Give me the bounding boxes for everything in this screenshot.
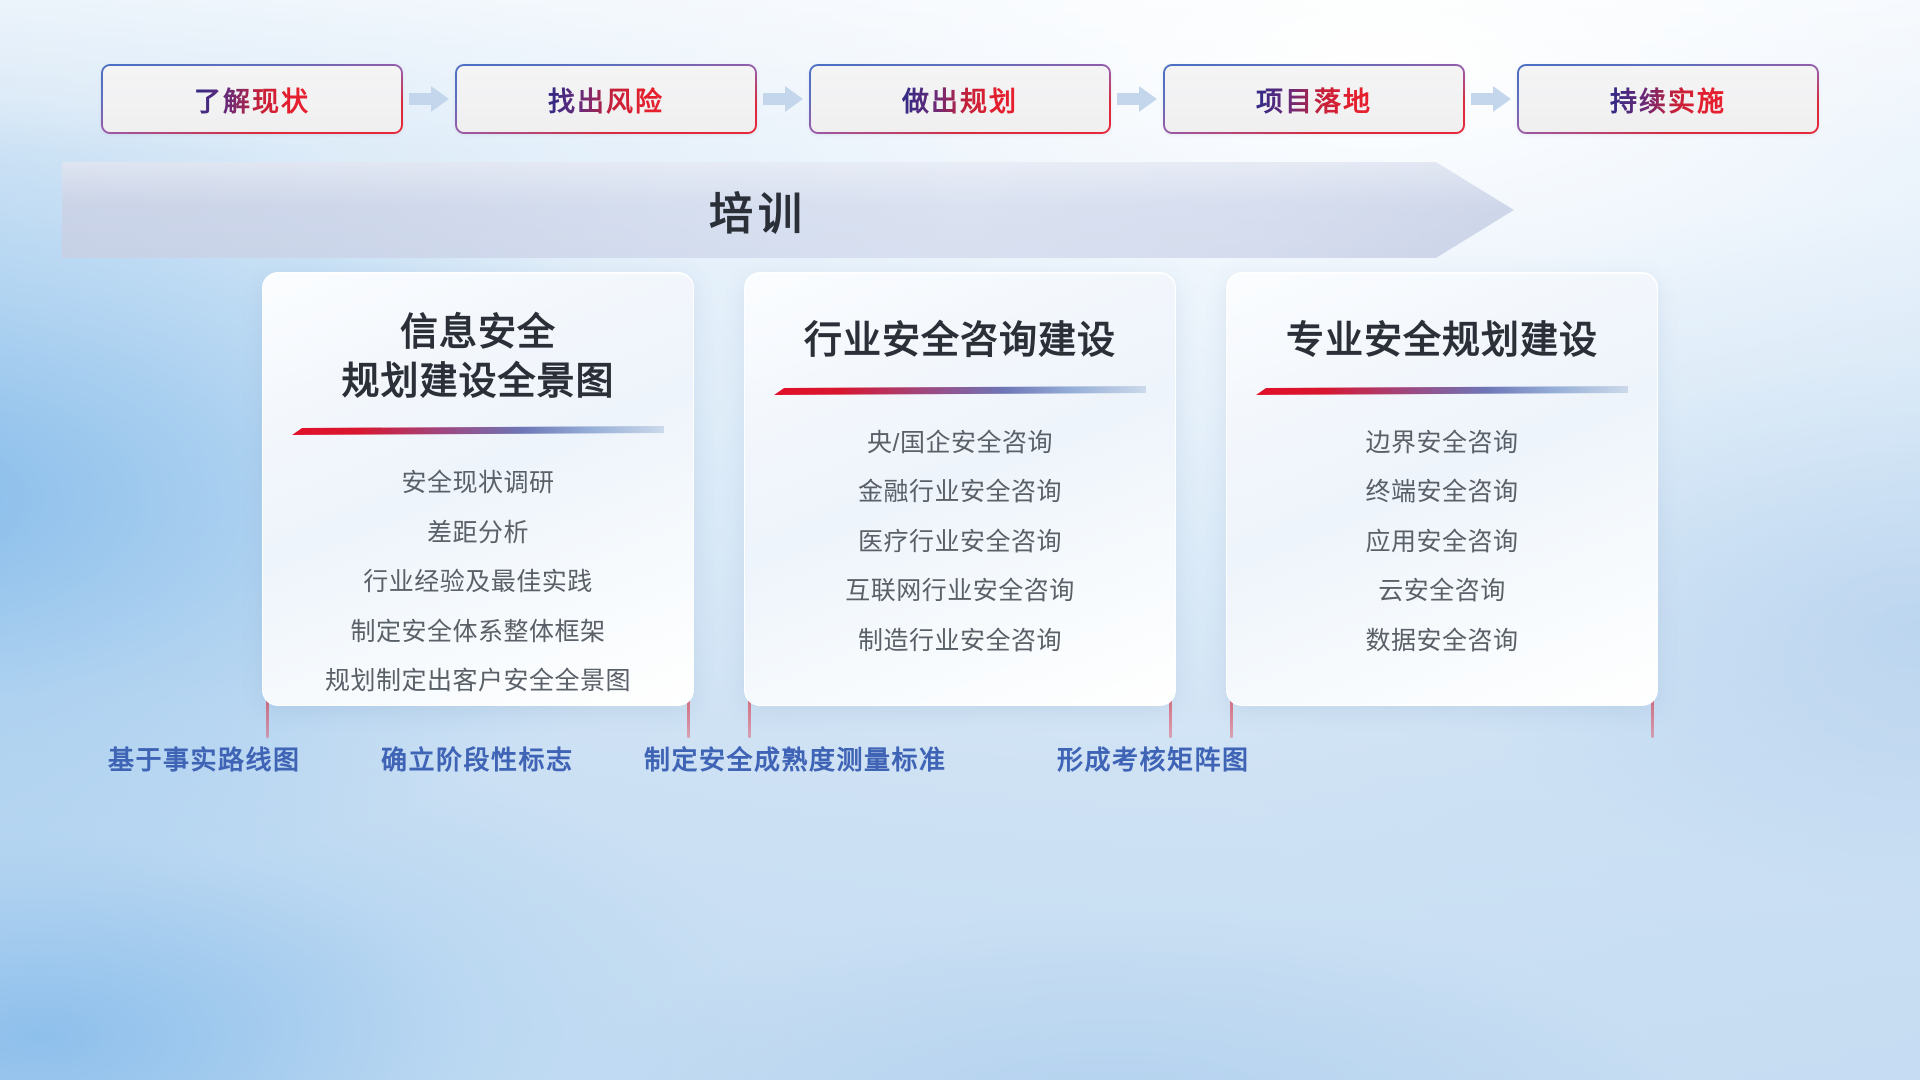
card-1[interactable]: 信息安全 规划建设全景图 — [262, 272, 694, 706]
process-step-1[interactable]: 了解现状 — [101, 64, 403, 134]
list-item: 制定安全体系整体框架 — [350, 612, 605, 654]
process-step-4[interactable]: 项目落地 — [1163, 64, 1465, 134]
process-arrow-4-icon — [1465, 82, 1517, 116]
list-item: 边界安全咨询 — [1365, 423, 1518, 465]
process-step-3-wrapper: 做出规划 — [809, 64, 1111, 134]
list-item: 医疗行业安全咨询 — [858, 522, 1062, 564]
card-3-title: 专业安全规划建设 — [1286, 317, 1598, 366]
process-step-2-label: 找出风险 — [548, 80, 664, 119]
list-item: 云安全咨询 — [1378, 571, 1506, 613]
training-banner-title: 培训 — [62, 162, 1514, 258]
card-1-wrapper: 信息安全 规划建设全景图 — [262, 272, 694, 720]
list-item: 央/国企安全咨询 — [867, 423, 1053, 465]
card-2-title: 行业安全咨询建设 — [804, 317, 1116, 366]
process-arrow-3-icon — [1111, 82, 1163, 116]
card-3-divider-icon — [1256, 386, 1628, 397]
card-3-list: 边界安全咨询 终端安全咨询 应用安全咨询 云安全咨询 数据安全咨询 — [1227, 423, 1657, 663]
process-step-3-label: 做出规划 — [902, 80, 1018, 119]
process-step-5[interactable]: 持续实施 — [1517, 64, 1819, 134]
card-2[interactable]: 行业安全咨询建设 — [744, 272, 1176, 706]
process-step-row: 了解现状 找出风险 做出规划 项目落地 持续实施 — [0, 60, 1920, 138]
card-1-list: 安全现状调研 差距分析 行业经验及最佳实践 制定安全体系整体框架 规划制定出客户… — [263, 463, 693, 703]
list-item: 行业经验及最佳实践 — [363, 562, 593, 604]
list-item: 金融行业安全咨询 — [858, 472, 1062, 514]
card-row: 信息安全 规划建设全景图 — [0, 272, 1920, 720]
footnote-3: 制定安全成熟度测量标准 — [644, 740, 947, 777]
footnote-2: 确立阶段性标志 — [381, 740, 574, 777]
footnote-1: 基于事实路线图 — [108, 740, 301, 777]
list-item: 安全现状调研 — [401, 463, 554, 505]
card-2-list: 央/国企安全咨询 金融行业安全咨询 医疗行业安全咨询 互联网行业安全咨询 制造行… — [745, 423, 1175, 663]
list-item: 数据安全咨询 — [1365, 621, 1518, 663]
list-item: 差距分析 — [427, 513, 529, 555]
process-step-3[interactable]: 做出规划 — [809, 64, 1111, 134]
process-step-2-wrapper: 找出风险 — [455, 64, 757, 134]
list-item: 终端安全咨询 — [1365, 472, 1518, 514]
training-banner: 培训 — [62, 162, 1514, 258]
process-step-4-wrapper: 项目落地 — [1163, 64, 1465, 134]
card-1-divider-icon — [292, 426, 664, 437]
footnote-row: 基于事实路线图 确立阶段性标志 制定安全成熟度测量标准 形成考核矩阵图 — [0, 740, 1920, 790]
list-item: 应用安全咨询 — [1365, 522, 1518, 564]
card-2-divider-icon — [774, 386, 1146, 397]
process-arrow-2-icon — [757, 82, 809, 116]
card-1-title: 信息安全 规划建设全景图 — [341, 309, 614, 406]
footnote-4: 形成考核矩阵图 — [1057, 740, 1250, 777]
process-arrow-1-icon — [403, 82, 455, 116]
list-item: 规划制定出客户安全全景图 — [325, 661, 631, 703]
card-3-wrapper: 专业安全规划建设 — [1226, 272, 1658, 720]
process-step-5-wrapper: 持续实施 — [1517, 64, 1819, 134]
process-step-1-wrapper: 了解现状 — [101, 64, 403, 134]
list-item: 制造行业安全咨询 — [858, 621, 1062, 663]
card-3[interactable]: 专业安全规划建设 — [1226, 272, 1658, 706]
card-2-wrapper: 行业安全咨询建设 — [744, 272, 1176, 720]
process-step-4-label: 项目落地 — [1256, 80, 1372, 119]
list-item: 互联网行业安全咨询 — [845, 571, 1075, 613]
process-step-5-label: 持续实施 — [1610, 80, 1726, 119]
process-step-2[interactable]: 找出风险 — [455, 64, 757, 134]
process-step-1-label: 了解现状 — [194, 80, 310, 119]
